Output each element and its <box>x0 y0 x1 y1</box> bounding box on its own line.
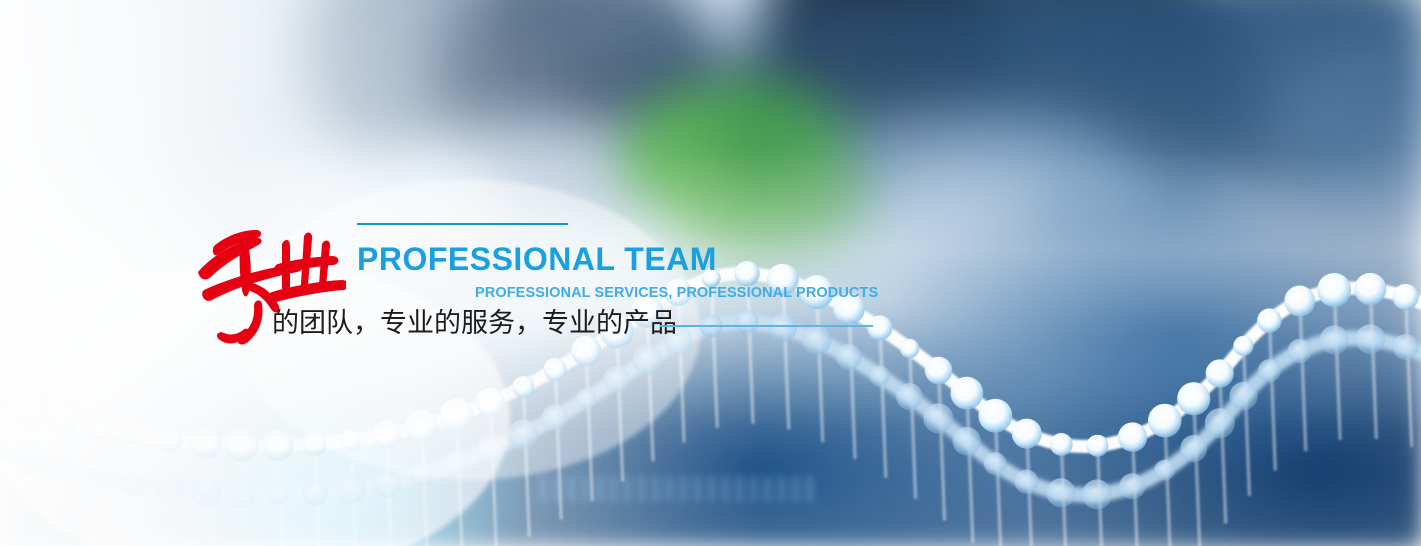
banner-content: PROFESSIONAL TEAM PROFESSIONAL SERVICES,… <box>0 0 1421 546</box>
decorative-rule-top <box>357 223 568 225</box>
page-title: PROFESSIONAL TEAM <box>357 243 717 275</box>
hero-banner: PROFESSIONAL TEAM PROFESSIONAL SERVICES,… <box>0 0 1421 546</box>
chinese-tagline: 的团队，专业的服务，专业的产品 <box>272 307 677 341</box>
page-subtitle: PROFESSIONAL SERVICES, PROFESSIONAL PROD… <box>475 286 878 301</box>
decorative-rule-bottom <box>660 325 873 327</box>
